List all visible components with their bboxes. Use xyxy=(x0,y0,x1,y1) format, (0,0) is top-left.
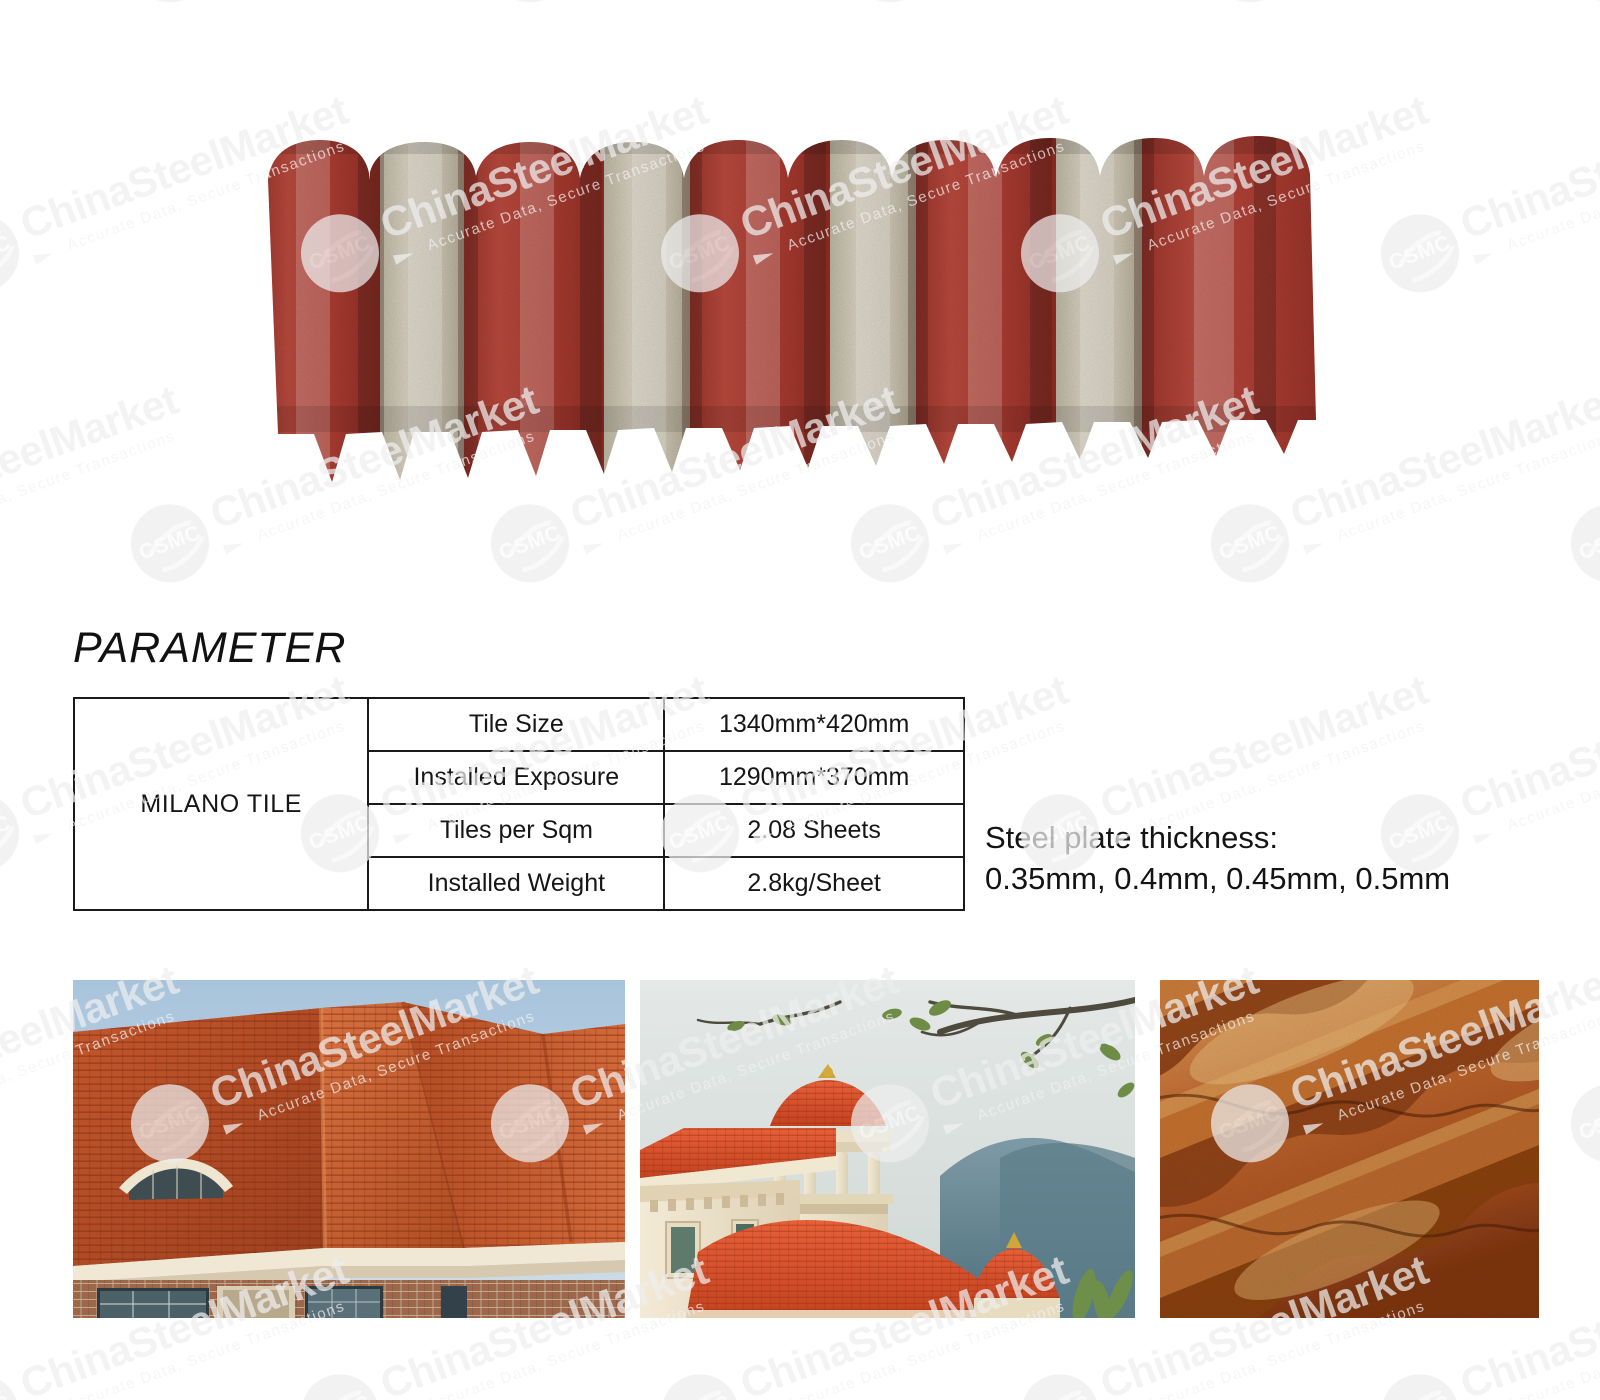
watermark-stamp: CSMCChinaSteelMarketAccurate Data, Secur… xyxy=(1370,82,1600,303)
csmc-logo-icon: CSMC xyxy=(1200,0,1300,13)
product-name-cell: MILANO TILE xyxy=(74,698,368,910)
watermark-stamp: CSMCChinaSteelMarketAccurate Data, Secur… xyxy=(480,0,913,13)
parameter-value-cell: 1290mm*370mm xyxy=(664,751,964,804)
csmc-logo-icon: CSMC xyxy=(1560,0,1600,13)
csmc-logo-icon: CSMC xyxy=(1200,493,1300,593)
parameter-key-cell: Installed Weight xyxy=(368,857,664,910)
parameter-value-cell: 2.8kg/Sheet xyxy=(664,857,964,910)
parameter-key-cell: Tiles per Sqm xyxy=(368,804,664,857)
csmc-logo-icon: CSMC xyxy=(480,0,580,13)
parameter-value-cell: 1340mm*420mm xyxy=(664,698,964,751)
watermark-stamp: CSMCChinaSteelMarketAccurate Data, Secur… xyxy=(1560,952,1600,1173)
csmc-logo-icon: CSMC xyxy=(480,493,580,593)
csmc-logo-icon: CSMC xyxy=(840,0,940,13)
csmc-logo-icon: CSMC xyxy=(1010,1363,1110,1400)
csmc-logo-icon: CSMC xyxy=(0,783,30,883)
brick-house-illustration xyxy=(73,980,625,1318)
csmc-logo-icon: CSMC xyxy=(1560,493,1600,593)
villa-illustration xyxy=(640,980,1135,1318)
csmc-logo-icon: CSMC xyxy=(120,493,220,593)
table-row: MILANO TILE Tile Size 1340mm*420mm xyxy=(74,698,964,751)
watermark-stamp: CSMCChinaSteelMarketAccurate Data, Secur… xyxy=(1200,0,1600,13)
gallery-photo-villa xyxy=(640,980,1135,1318)
hero-product-image xyxy=(258,120,1348,490)
csmc-logo-icon: CSMC xyxy=(290,1363,390,1400)
watermark-stamp: CSMCChinaSteelMarketAccurate Data, Secur… xyxy=(120,0,553,13)
parameter-table: MILANO TILE Tile Size 1340mm*420mm Insta… xyxy=(73,697,965,911)
steel-thickness-note: Steel plate thickness: 0.35mm, 0.4mm, 0.… xyxy=(985,818,1585,900)
watermark-stamp: CSMCChinaSteelMarketAccurate Data, Secur… xyxy=(1560,372,1600,593)
gallery-photo-tile-closeup xyxy=(1160,980,1539,1318)
steel-thickness-values: 0.35mm, 0.4mm, 0.45mm, 0.5mm xyxy=(985,859,1585,900)
csmc-logo-icon: CSMC xyxy=(1370,203,1470,303)
tile-illustration xyxy=(258,120,1348,490)
parameter-value-cell: 2.08 Sheets xyxy=(664,804,964,857)
parameter-key-cell: Installed Exposure xyxy=(368,751,664,804)
tile-closeup-illustration xyxy=(1160,980,1539,1318)
gallery-photo-brick-house xyxy=(73,980,625,1318)
csmc-logo-icon: CSMC xyxy=(650,1363,750,1400)
csmc-logo-icon: CSMC xyxy=(1370,1363,1470,1400)
csmc-logo-icon: CSMC xyxy=(0,203,30,303)
csmc-logo-icon: CSMC xyxy=(0,1363,30,1400)
parameter-key-cell: Tile Size xyxy=(368,698,664,751)
watermark-stamp: CSMCChinaSteelMarketAccurate Data, Secur… xyxy=(0,0,193,13)
parameter-heading: PARAMETER xyxy=(73,624,346,673)
watermark-stamp: CSMCChinaSteelMarketAccurate Data, Secur… xyxy=(840,0,1273,13)
application-photo-gallery xyxy=(73,980,1539,1318)
watermark-stamp: CSMCChinaSteelMarketAccurate Data, Secur… xyxy=(1560,0,1600,13)
csmc-logo-icon: CSMC xyxy=(840,493,940,593)
steel-thickness-label: Steel plate thickness: xyxy=(985,818,1585,859)
watermark-stamp: CSMCChinaSteelMarketAccurate Data, Secur… xyxy=(0,372,193,593)
csmc-logo-icon: CSMC xyxy=(120,0,220,13)
csmc-logo-icon: CSMC xyxy=(1560,1073,1600,1173)
